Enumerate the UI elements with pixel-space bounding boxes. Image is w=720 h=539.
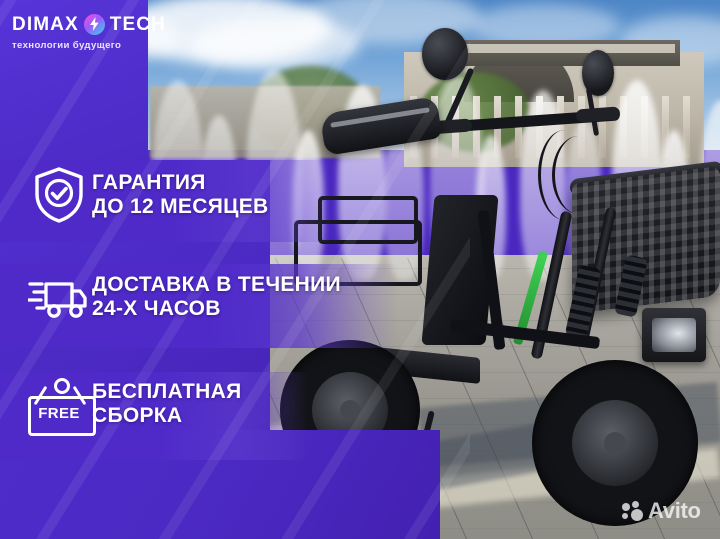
feature-assembly: FREE БЕСПЛАТНАЯ СБОРКА bbox=[26, 378, 241, 430]
feature-delivery-text: ДОСТАВКА В ТЕЧЕНИИ 24-Х ЧАСОВ bbox=[92, 273, 341, 320]
left-mirror bbox=[422, 28, 468, 80]
delivery-truck-icon bbox=[26, 272, 92, 322]
avito-dots-icon bbox=[622, 501, 644, 521]
feature-warranty-text: ГАРАНТИЯ ДО 12 МЕСЯЦЕВ bbox=[92, 171, 269, 218]
logo-tagline: технологии будущего bbox=[12, 40, 152, 51]
sign-hook-icon bbox=[54, 378, 70, 394]
logo-word-tech: TECH bbox=[110, 15, 166, 34]
headlight-lens bbox=[652, 318, 696, 352]
front-hub bbox=[604, 432, 626, 454]
free-badge-label: FREE bbox=[28, 396, 90, 430]
rear-hub bbox=[340, 400, 360, 420]
advertisement-banner: DIMAX TECH технологии будущего ГАРАНТИЯ … bbox=[0, 0, 720, 539]
avito-label: Avito bbox=[648, 500, 701, 522]
rear-rack-upper bbox=[318, 196, 418, 244]
avito-watermark: Avito bbox=[622, 500, 701, 522]
feature-assembly-line1: БЕСПЛАТНАЯ bbox=[92, 380, 241, 404]
feature-warranty-line2: ДО 12 МЕСЯЦЕВ bbox=[92, 195, 269, 219]
feature-delivery-line1: ДОСТАВКА В ТЕЧЕНИИ bbox=[92, 273, 341, 297]
feature-delivery: ДОСТАВКА В ТЕЧЕНИИ 24-Х ЧАСОВ bbox=[26, 272, 341, 322]
free-hanging-sign-icon: FREE bbox=[26, 378, 92, 430]
logo-word-dimax: DIMAX bbox=[12, 15, 79, 34]
feature-warranty-line1: ГАРАНТИЯ bbox=[92, 171, 269, 195]
feature-warranty: ГАРАНТИЯ ДО 12 МЕСЯЦЕВ bbox=[26, 166, 269, 224]
brand-logo[interactable]: DIMAX TECH технологии будущего bbox=[12, 12, 152, 52]
lightning-bolt-badge-icon bbox=[84, 14, 105, 35]
shield-check-icon bbox=[26, 166, 92, 224]
feature-assembly-text: БЕСПЛАТНАЯ СБОРКА bbox=[92, 380, 241, 427]
feature-assembly-line2: СБОРКА bbox=[92, 404, 241, 428]
feature-delivery-line2: 24-Х ЧАСОВ bbox=[92, 297, 341, 321]
